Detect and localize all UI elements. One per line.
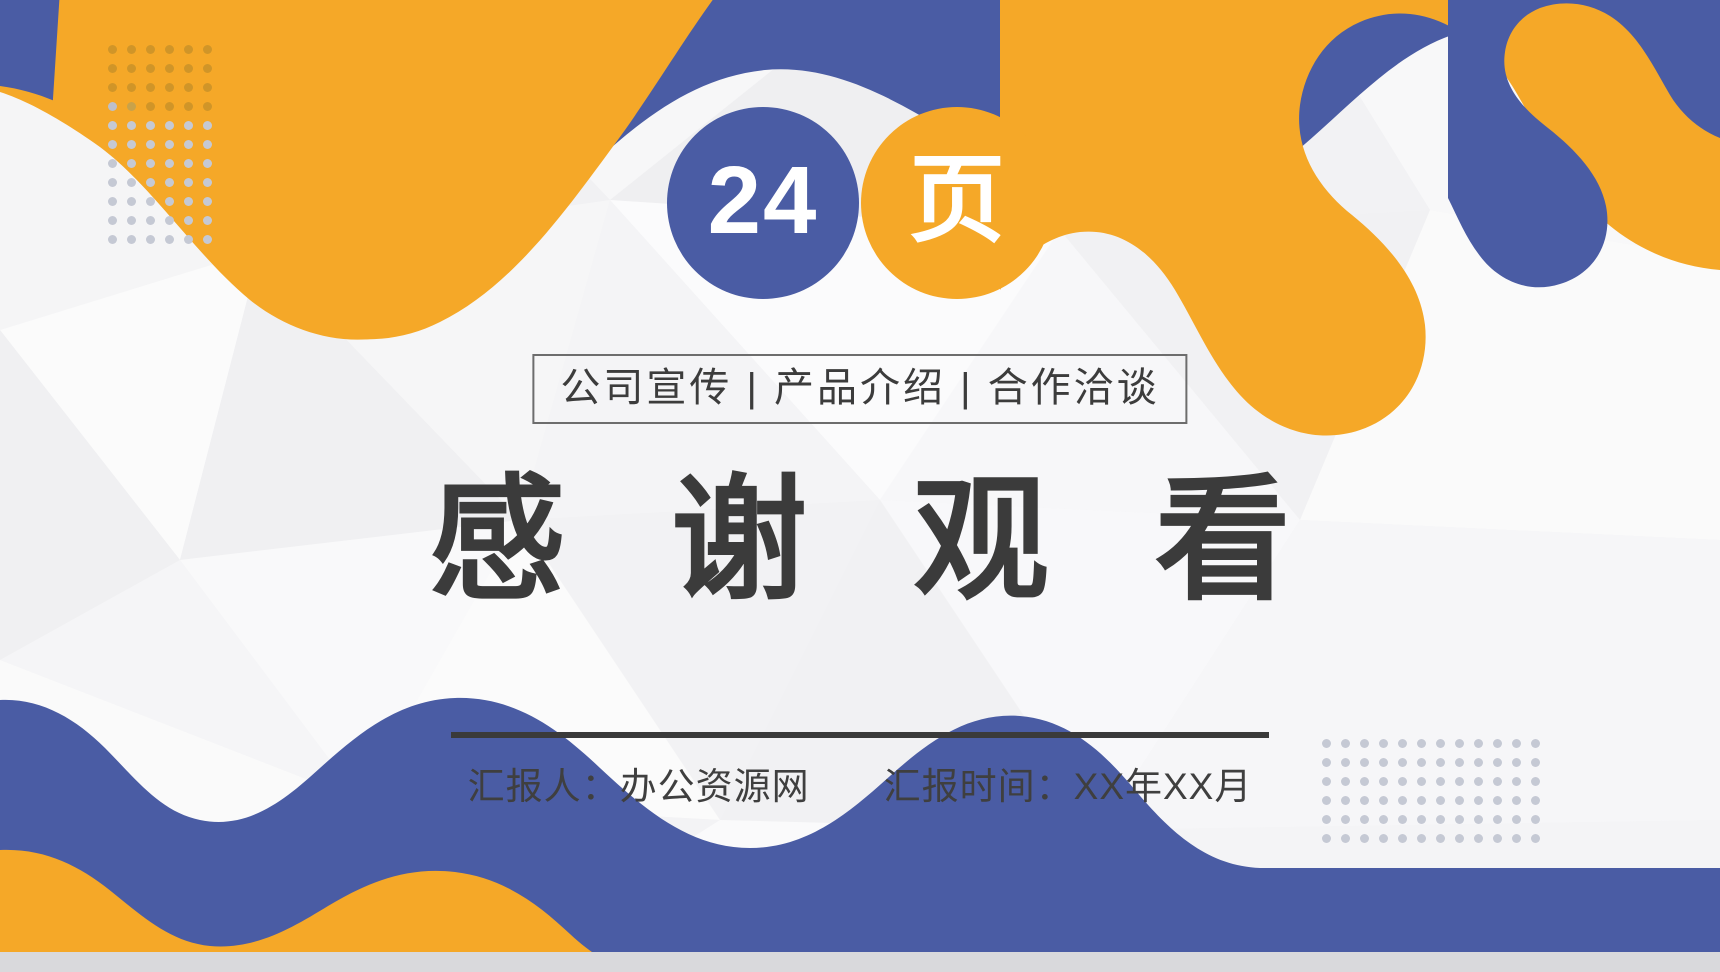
page-count-badge: 页 24	[667, 107, 1053, 299]
page-unit-circle: 页	[861, 107, 1053, 299]
page-number-circle: 24	[667, 107, 859, 299]
presenter-label: 汇报人：办公资源网	[468, 763, 810, 811]
slide-content: 页 24 公司宣传 | 产品介绍 | 合作洽谈 感 谢 观 看 汇报人：办公资源…	[0, 0, 1720, 972]
footer-divider	[451, 732, 1269, 738]
page-number-label: 24	[708, 153, 819, 249]
subtitle-label: 公司宣传 | 产品介绍 | 合作洽谈	[560, 367, 1159, 409]
presentation-slide: 页 24 公司宣传 | 产品介绍 | 合作洽谈 感 谢 观 看 汇报人：办公资源…	[0, 0, 1720, 972]
footer-meta: 汇报人：办公资源网 汇报时间：XX年XX月	[468, 763, 1253, 811]
page-title: 感 谢 观 看	[395, 462, 1324, 618]
page-unit-label: 页	[909, 153, 1005, 249]
date-label: 汇报时间：XX年XX月	[884, 763, 1253, 811]
subtitle-box: 公司宣传 | 产品介绍 | 合作洽谈	[532, 354, 1187, 424]
